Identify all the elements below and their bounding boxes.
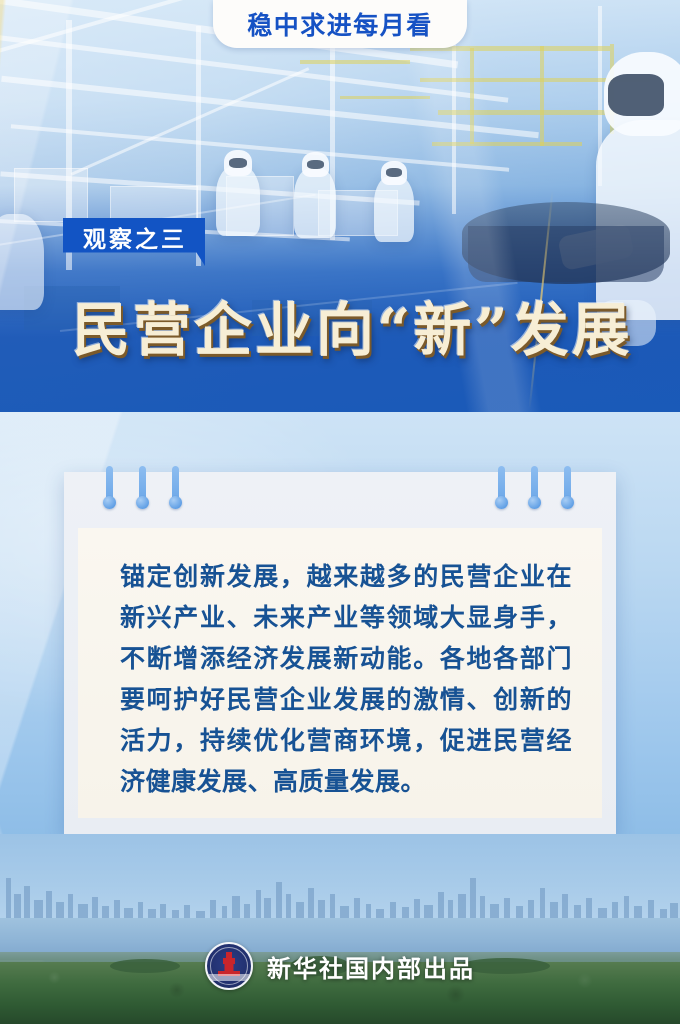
factory-yellow-rig xyxy=(300,60,410,64)
city-skyline xyxy=(0,852,680,924)
factory-yellow-rig xyxy=(432,142,582,146)
top-badge: 稳中求进每月看 xyxy=(213,0,467,48)
robot-body xyxy=(0,214,44,310)
section-ribbon-label: 观察之三 xyxy=(83,220,187,254)
factory-yellow-rig xyxy=(470,48,474,144)
robot-visor xyxy=(229,158,247,168)
footer: 新华社国内部出品 xyxy=(0,942,680,990)
factory-truss xyxy=(71,67,310,175)
factory-yellow-rig xyxy=(540,46,544,146)
robot-body xyxy=(294,168,336,238)
landscape-photo xyxy=(0,834,680,1024)
top-badge-label: 稳中求进每月看 xyxy=(247,6,433,42)
robot-visor xyxy=(386,168,402,177)
xinhua-logo-icon xyxy=(205,942,253,990)
factory-truss xyxy=(11,124,509,172)
quote-text: 锚定创新发展，越来越多的民营企业在新兴产业、未来产业等领域大显身手，不断增添经济… xyxy=(120,556,572,802)
quote-card: 锚定创新发展，越来越多的民营企业在新兴产业、未来产业等领域大显身手，不断增添经济… xyxy=(64,472,616,834)
robot-body xyxy=(216,166,260,236)
quote-card-inner-panel: 锚定创新发展，越来越多的民营企业在新兴产业、未来产业等领域大显身手，不断增添经济… xyxy=(78,528,602,818)
robot-visor-large xyxy=(608,74,664,116)
factory-yellow-rig xyxy=(340,96,430,99)
factory-yellow-rig xyxy=(438,110,618,115)
footer-label: 新华社国内部出品 xyxy=(267,949,475,984)
robot-body xyxy=(374,176,414,242)
page-title: 民营企业向“新”发展 xyxy=(72,283,672,367)
poster-root: 稳中求进每月看 观察之三 民营企业向“新”发展 锚定创新发展，越来越多的民营企业… xyxy=(0,0,680,1024)
robot-workpiece-body xyxy=(468,226,664,282)
robot-visor xyxy=(307,160,324,169)
